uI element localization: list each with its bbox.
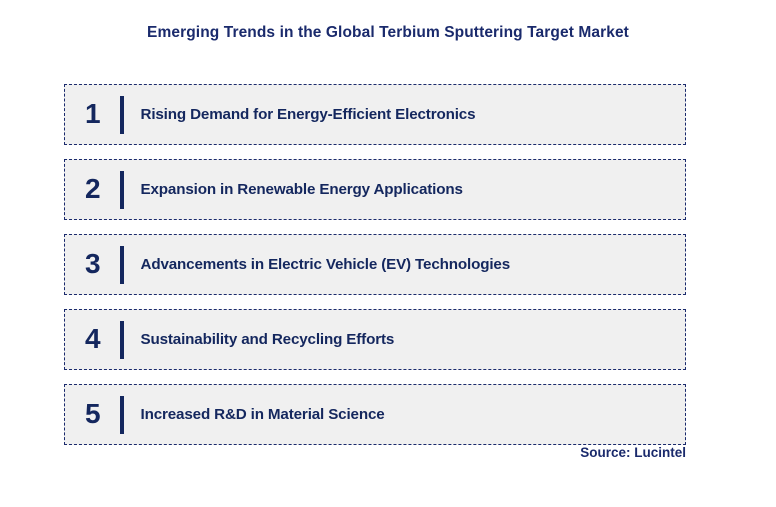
trend-number: 4 (65, 325, 120, 355)
list-item[interactable]: 1 Rising Demand for Energy-Efficient Ele… (64, 84, 686, 145)
list-item[interactable]: 5 Increased R&D in Material Science (64, 384, 686, 445)
trend-label: Expansion in Renewable Energy Applicatio… (141, 181, 686, 198)
trend-number: 1 (65, 100, 120, 130)
list-item[interactable]: 2 Expansion in Renewable Energy Applicat… (64, 159, 686, 220)
trend-label: Sustainability and Recycling Efforts (141, 331, 686, 348)
trend-list: 1 Rising Demand for Energy-Efficient Ele… (64, 84, 686, 445)
trend-label: Advancements in Electric Vehicle (EV) Te… (141, 256, 686, 273)
source-attribution: Source: Lucintel (0, 445, 686, 460)
vertical-divider-icon (120, 246, 124, 284)
trend-label: Rising Demand for Energy-Efficient Elect… (141, 106, 686, 123)
list-item[interactable]: 4 Sustainability and Recycling Efforts (64, 309, 686, 370)
infographic-canvas: Emerging Trends in the Global Terbium Sp… (0, 0, 776, 507)
trend-label: Increased R&D in Material Science (141, 406, 686, 423)
page-title: Emerging Trends in the Global Terbium Sp… (0, 24, 776, 42)
vertical-divider-icon (120, 171, 124, 209)
vertical-divider-icon (120, 96, 124, 134)
trend-number: 2 (65, 175, 120, 205)
vertical-divider-icon (120, 396, 124, 434)
list-item[interactable]: 3 Advancements in Electric Vehicle (EV) … (64, 234, 686, 295)
vertical-divider-icon (120, 321, 124, 359)
trend-number: 5 (65, 400, 120, 430)
trend-number: 3 (65, 250, 120, 280)
